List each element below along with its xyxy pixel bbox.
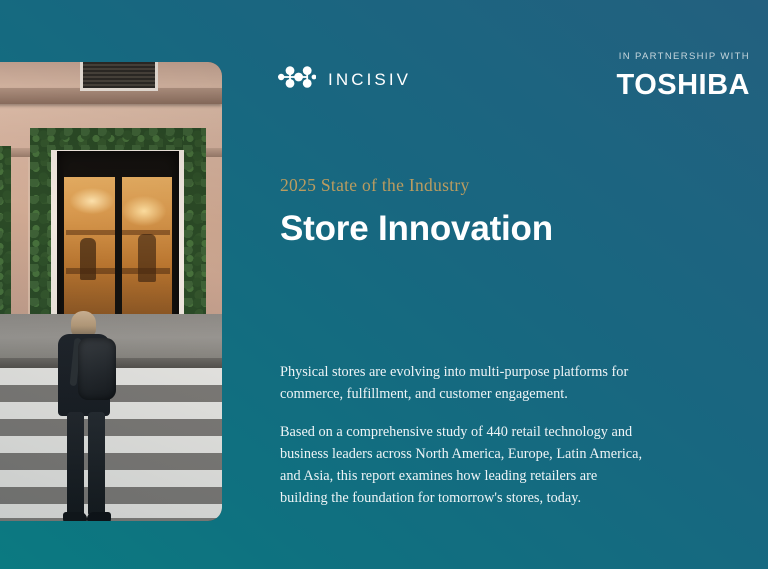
photo-pedestrian-leg-left (67, 412, 84, 516)
photo-backpack (78, 338, 116, 400)
incisiv-logo: INCISIV (278, 64, 411, 95)
photo-ivy-far-left (0, 146, 11, 326)
page-title: Store Innovation (280, 209, 553, 248)
body-paragraph: Based on a comprehensive study of 440 re… (280, 422, 645, 509)
cover-photo (0, 62, 222, 521)
incisiv-wordmark: INCISIV (328, 71, 411, 88)
photo-ivy-top (30, 128, 206, 150)
report-cover-slide: INCISIV IN PARTNERSHIP WITH TOSHIBA 2025… (0, 0, 768, 569)
photo-ivy-left (30, 128, 51, 323)
partner-lockup: IN PARTNERSHIP WITH TOSHIBA (617, 52, 750, 100)
photo-pedestrian-shoe-right (87, 512, 111, 521)
photo-asphalt (0, 518, 222, 521)
body-copy: Physical stores are evolving into multi-… (280, 362, 645, 509)
photo-ivy-right (184, 128, 206, 323)
incisiv-dot-cluster-logo-icon (278, 64, 316, 95)
title-block: 2025 State of the Industry Store Innovat… (280, 175, 553, 248)
partnership-kicker: IN PARTNERSHIP WITH (617, 52, 750, 62)
report-eyebrow: 2025 State of the Industry (280, 175, 553, 196)
photo-louvered-shutter (80, 62, 158, 91)
body-paragraph: Physical stores are evolving into multi-… (280, 362, 645, 405)
photo-pedestrian-shoe-left (63, 512, 87, 521)
toshiba-wordmark: TOSHIBA (617, 71, 750, 100)
photo-pedestrian-leg-right (88, 412, 105, 516)
